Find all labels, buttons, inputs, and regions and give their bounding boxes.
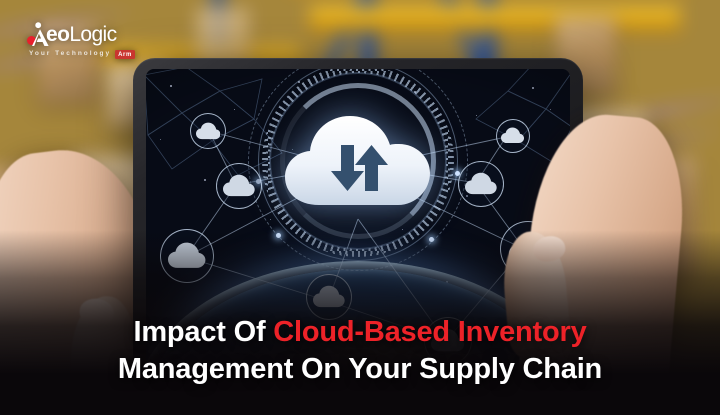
cloud-icon xyxy=(223,170,255,202)
cloud-node[interactable] xyxy=(160,229,214,283)
headline-line-1: Impact Of Cloud-Based Inventory xyxy=(16,314,704,352)
headline: Impact Of Cloud-Based Inventory Manageme… xyxy=(0,314,720,389)
headline-line1-pre: Impact Of xyxy=(133,316,273,348)
aeologic-mark-icon xyxy=(27,22,49,46)
cloud-icon xyxy=(501,124,524,147)
rack-beam xyxy=(310,6,680,32)
brand-logo[interactable]: eoLogic Your Technology Arm xyxy=(27,22,135,59)
cloud-icon xyxy=(168,237,205,274)
cloud-node[interactable] xyxy=(216,163,262,209)
cloud-icon xyxy=(196,119,220,143)
cloud-node[interactable] xyxy=(190,113,226,149)
logo-word-accent: eo xyxy=(46,23,69,46)
logo-text: eoLogic xyxy=(46,24,117,45)
logo-tagline: Your Technology Arm xyxy=(29,50,135,59)
blog-banner: Impact Of Cloud-Based Inventory Manageme… xyxy=(0,0,720,415)
logo-word-rest: Logic xyxy=(69,23,116,46)
cloud-icon xyxy=(313,281,345,313)
logo-tagline-text: Your Technology xyxy=(29,51,111,58)
headline-highlight: Cloud-Based Inventory xyxy=(273,316,586,348)
cloud-sync-icon xyxy=(283,107,433,211)
headline-line-2: Management On Your Supply Chain xyxy=(16,351,704,389)
cloud-icon xyxy=(465,168,497,200)
logo-a-glyph xyxy=(32,22,49,46)
cloud-node[interactable] xyxy=(496,119,530,153)
cloud-node[interactable] xyxy=(458,161,504,207)
logo-tagline-badge: Arm xyxy=(115,50,135,59)
logo-wordmark: eoLogic xyxy=(27,22,135,46)
